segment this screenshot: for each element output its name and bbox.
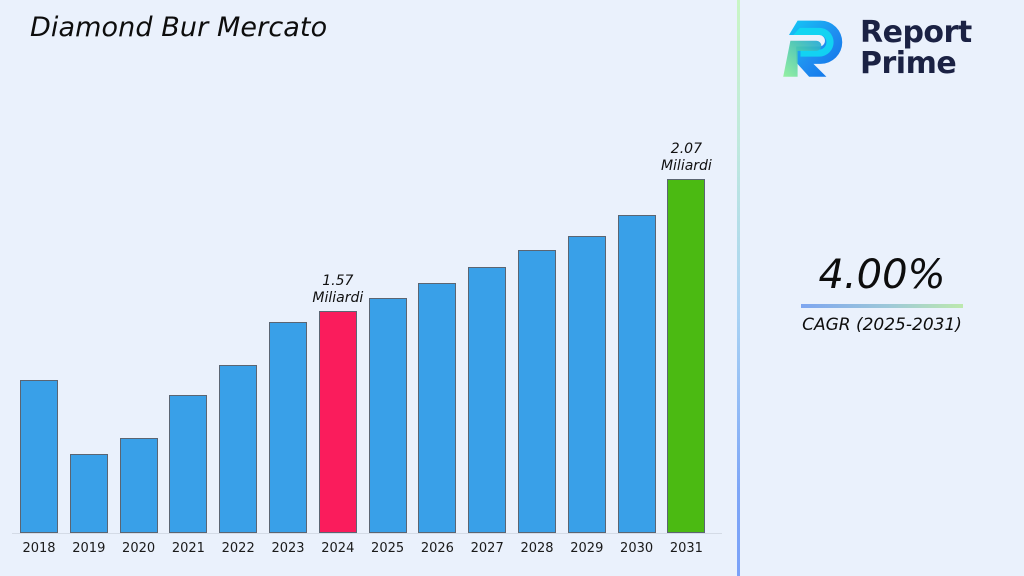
cagr-block: 4.00% CAGR (2025-2031) (740, 252, 1024, 335)
bar-rect-2029[interactable] (568, 236, 606, 533)
bar-value-label-line: 1.57 (312, 273, 363, 290)
x-tick-label-2027: 2027 (468, 541, 506, 556)
x-tick-label-2031: 2031 (667, 541, 705, 556)
bar-rect-2030[interactable] (618, 215, 656, 533)
infographic-root: Diamond Bur Mercato 20182019202020212022… (0, 0, 1024, 576)
bar-rect-2018[interactable] (20, 380, 58, 533)
x-tick-label-2020: 2020 (120, 541, 158, 556)
brand-name-line1: Report (860, 17, 972, 48)
x-tick-label-2021: 2021 (169, 541, 207, 556)
bar-rect-2024[interactable] (319, 311, 357, 533)
x-tick-label-2019: 2019 (70, 541, 108, 556)
cagr-caption: CAGR (2025-2031) (740, 315, 1024, 335)
bar-rect-2026[interactable] (418, 283, 456, 533)
x-axis-line (12, 533, 722, 534)
bar-chart-plot: 2018201920202021202220231.57Miliardi2024… (0, 0, 738, 576)
brand-panel: Report Prime 4.00% CAGR (2025-2031) (740, 0, 1024, 576)
bar-value-label-line: Miliardi (312, 290, 363, 307)
x-tick-label-2025: 2025 (369, 541, 407, 556)
bar-rect-2025[interactable] (369, 298, 407, 533)
bar-rect-2022[interactable] (219, 365, 257, 533)
chart-panel: Diamond Bur Mercato 20182019202020212022… (0, 0, 738, 576)
x-tick-label-2018: 2018 (20, 541, 58, 556)
bar-rect-2027[interactable] (468, 267, 506, 533)
x-tick-label-2026: 2026 (418, 541, 456, 556)
x-tick-label-2030: 2030 (618, 541, 656, 556)
x-tick-label-2028: 2028 (518, 541, 556, 556)
cagr-value: 4.00% (740, 252, 1024, 298)
bar-value-label-line: 2.07 (661, 141, 712, 158)
bar-value-label-2024: 1.57Miliardi (312, 273, 363, 307)
bar-rect-2021[interactable] (169, 395, 207, 533)
x-tick-label-2023: 2023 (269, 541, 307, 556)
bar-rect-2019[interactable] (70, 454, 108, 533)
bar-value-label-2031: 2.07Miliardi (661, 141, 712, 175)
bar-rect-2031[interactable] (667, 179, 705, 533)
x-tick-label-2022: 2022 (219, 541, 257, 556)
bar-rect-2020[interactable] (120, 438, 158, 533)
brand-name-line2: Prime (860, 48, 972, 79)
brand-wordmark: Report Prime (860, 17, 972, 79)
bar-value-label-line: Miliardi (661, 158, 712, 175)
x-tick-label-2024: 2024 (319, 541, 357, 556)
brand-logo: Report Prime (776, 12, 972, 84)
cagr-divider (801, 304, 963, 308)
report-prime-r-logo-icon (776, 12, 848, 84)
x-tick-label-2029: 2029 (568, 541, 606, 556)
bar-rect-2023[interactable] (269, 322, 307, 533)
bar-rect-2028[interactable] (518, 250, 556, 533)
